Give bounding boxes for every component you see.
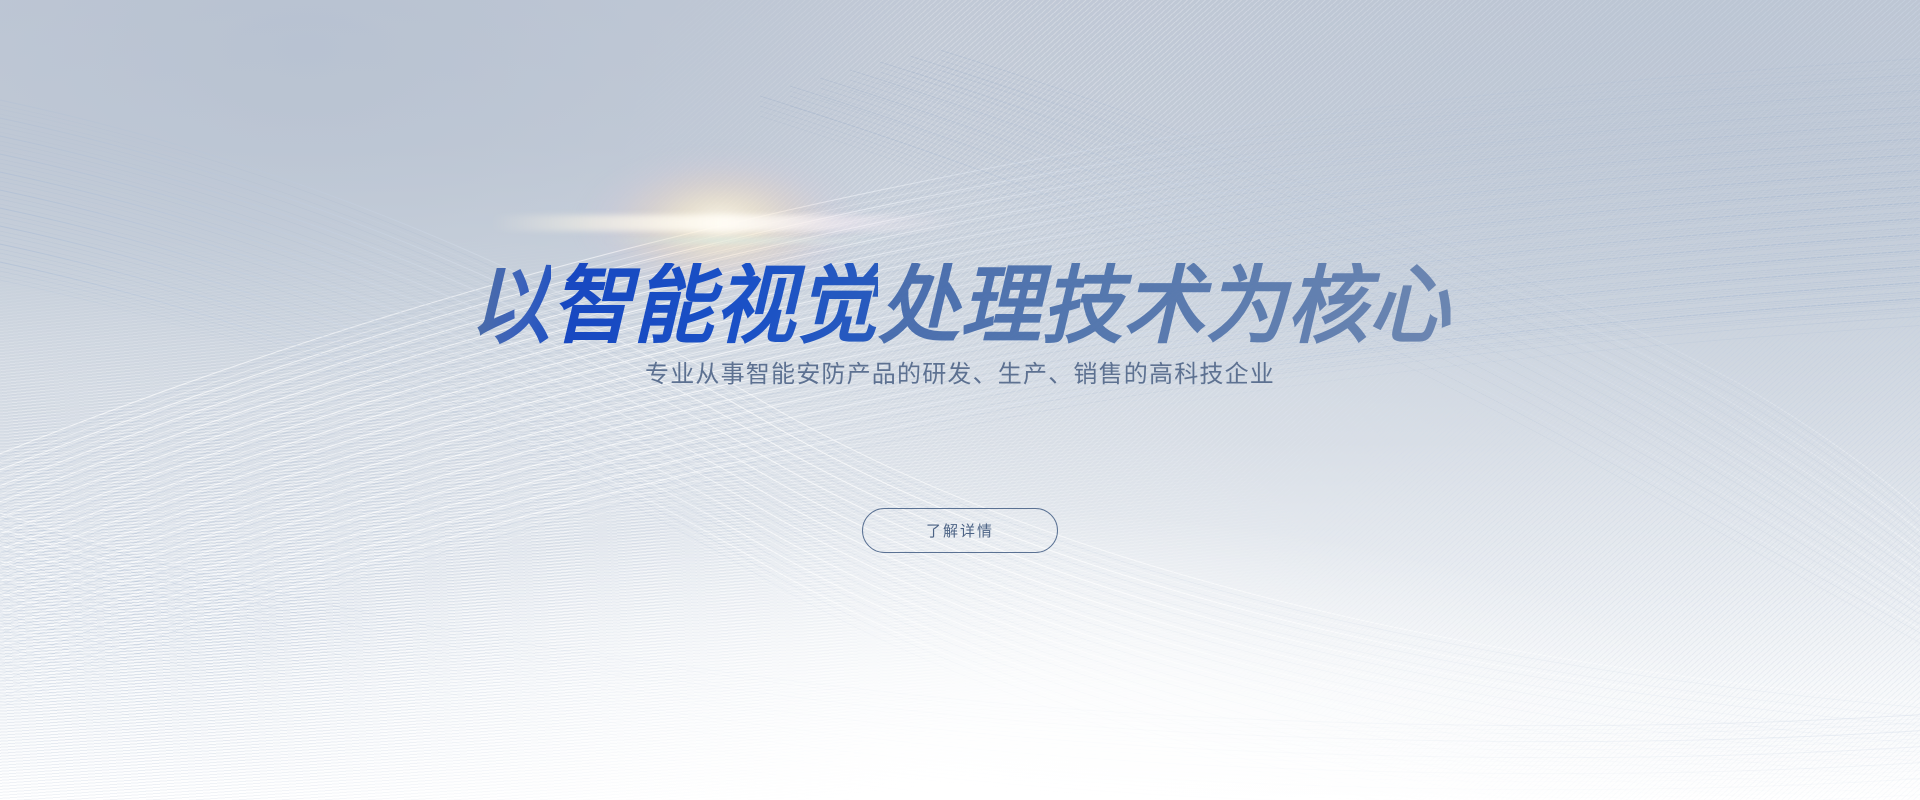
headline-segment-muted: 处理技术为核心	[878, 263, 1450, 349]
headline-segment-primary: 以	[469, 263, 551, 349]
banner-content: 以智能视觉处理技术为核心 专业从事智能安防产品的研发、生产、销售的高科技企业 了…	[0, 0, 1920, 800]
page-title: 以智能视觉处理技术为核心	[58, 263, 1863, 349]
hero-banner: 以智能视觉处理技术为核心 专业从事智能安防产品的研发、生产、销售的高科技企业 了…	[0, 0, 1920, 800]
headline-segment-accent: 智能视觉	[551, 263, 878, 349]
learn-more-button[interactable]: 了解详情	[862, 508, 1058, 553]
page-subtitle: 专业从事智能安防产品的研发、生产、销售的高科技企业	[0, 354, 1920, 389]
cta-container: 了解详情	[0, 508, 1920, 553]
